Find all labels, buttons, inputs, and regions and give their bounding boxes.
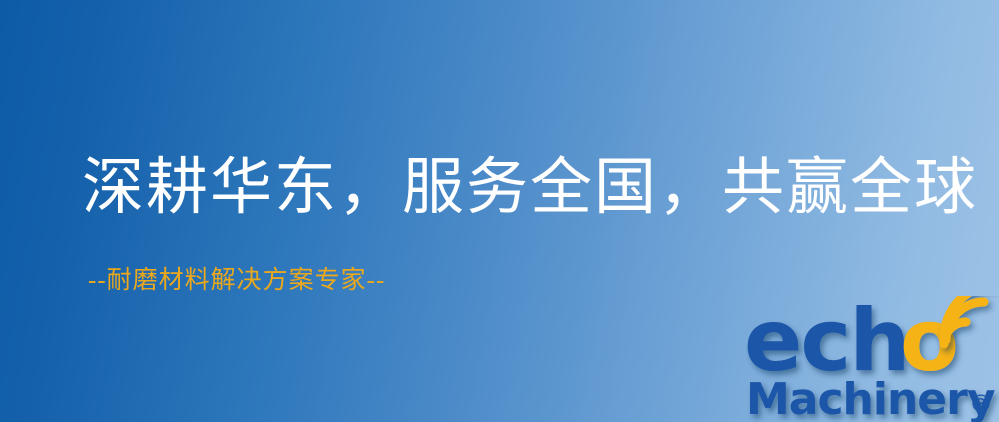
registered-trademark-symbol: ® <box>969 390 993 418</box>
logo-tagline: Machinery ® <box>746 374 995 422</box>
logo-machinery-text: Machinery <box>746 374 995 422</box>
echo-machinery-logo: ech o Machinery ® <box>742 296 999 422</box>
page-title: 深耕华东，服务全国，共赢全球 <box>82 152 978 224</box>
page-subtitle: --耐磨材料解决方案专家-- <box>88 266 385 296</box>
promo-banner: 深耕华东，服务全国，共赢全球 --耐磨材料解决方案专家-- ech o <box>0 0 999 422</box>
